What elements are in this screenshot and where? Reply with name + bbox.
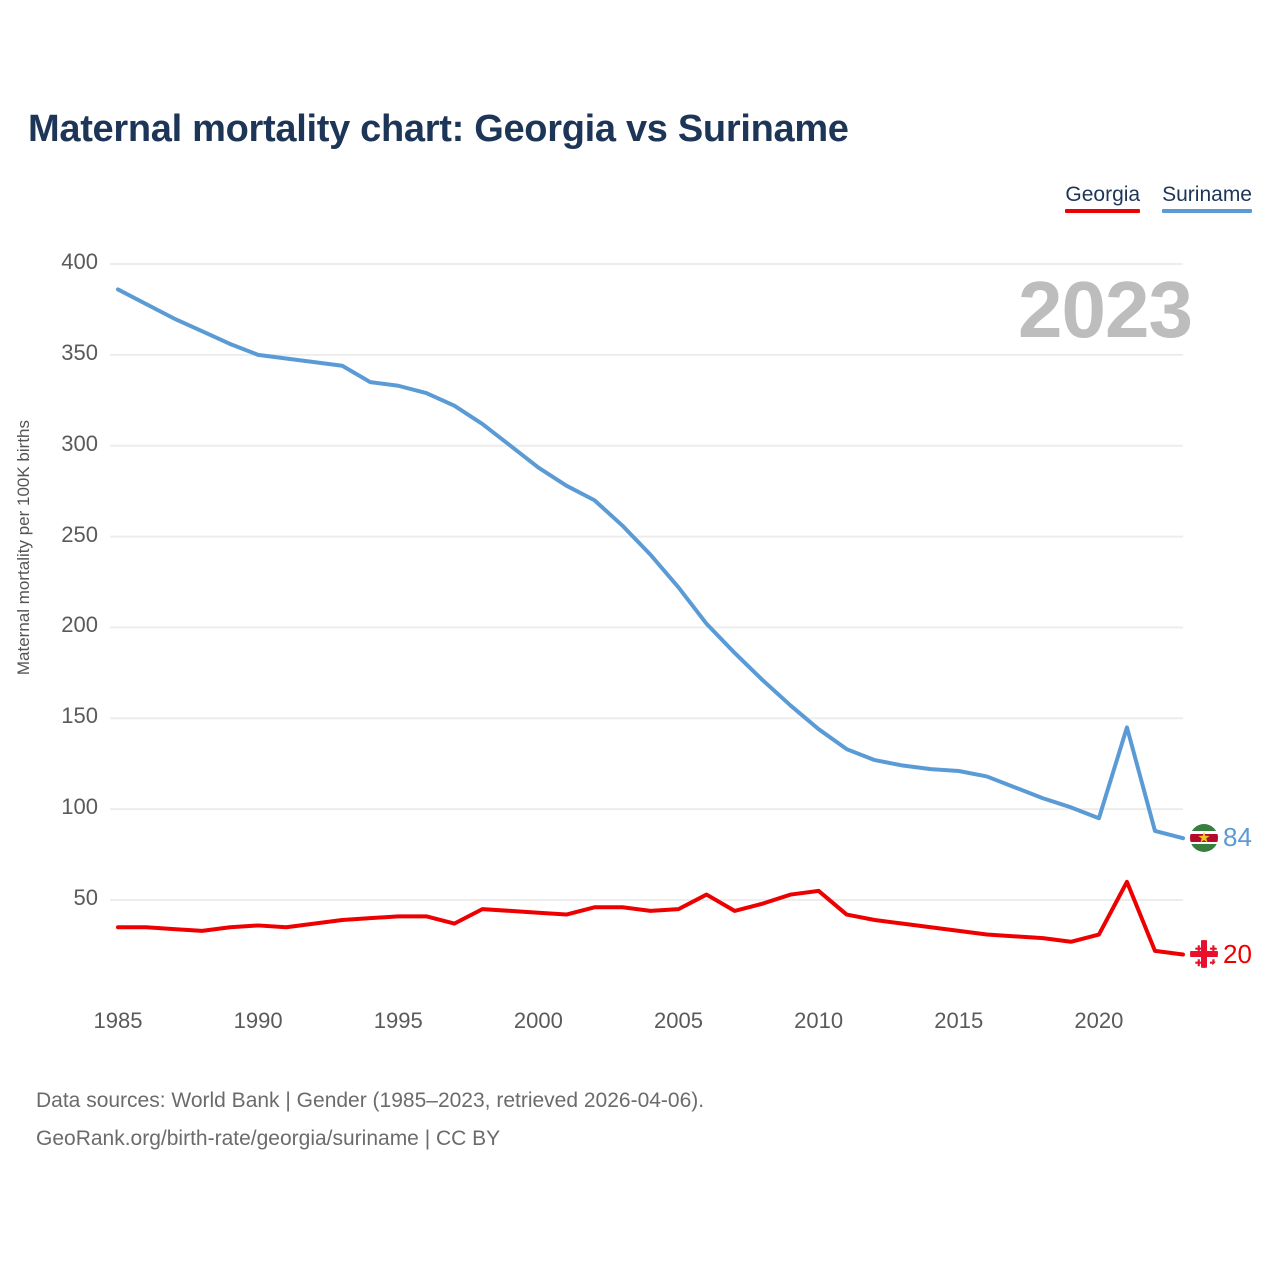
year-watermark: 2023	[1018, 270, 1192, 350]
chart-page: Maternal mortality chart: Georgia vs Sur…	[0, 0, 1280, 1280]
y-tick-label: 350	[61, 340, 98, 366]
x-tick-label: 2000	[514, 1008, 563, 1034]
x-tick-label: 2005	[654, 1008, 703, 1034]
x-tick-label: 2010	[794, 1008, 843, 1034]
end-label-georgia: ✚ ✚ ✚ ✚ 20	[1190, 939, 1252, 970]
x-tick-label: 2015	[934, 1008, 983, 1034]
y-tick-label: 50	[74, 885, 98, 911]
legend-item-georgia[interactable]: Georgia	[1065, 183, 1140, 213]
footer-line-2: GeoRank.org/birth-rate/georgia/suriname …	[36, 1120, 704, 1158]
legend-label-georgia: Georgia	[1065, 183, 1140, 207]
end-label-suriname: ★ 84	[1190, 822, 1252, 853]
legend-swatch-georgia	[1065, 209, 1140, 213]
gridlines	[110, 264, 1183, 900]
legend-swatch-suriname	[1162, 209, 1252, 213]
legend-label-suriname: Suriname	[1162, 183, 1252, 207]
chart-legend: Georgia Suriname	[1065, 183, 1252, 213]
x-tick-label: 1990	[234, 1008, 283, 1034]
y-tick-label: 250	[61, 522, 98, 548]
y-tick-label: 400	[61, 249, 98, 275]
x-tick-label: 2020	[1074, 1008, 1123, 1034]
y-tick-label: 300	[61, 431, 98, 457]
x-tick-label: 1995	[374, 1008, 423, 1034]
y-tick-label: 100	[61, 794, 98, 820]
page-title: Maternal mortality chart: Georgia vs Sur…	[28, 108, 849, 151]
end-value-suriname: 84	[1223, 822, 1252, 853]
y-tick-label: 200	[61, 612, 98, 638]
georgia-flag-icon: ✚ ✚ ✚ ✚	[1190, 940, 1218, 968]
y-axis-title: Maternal mortality per 100K births	[14, 420, 34, 675]
x-tick-label: 1985	[94, 1008, 143, 1034]
y-tick-label: 150	[61, 703, 98, 729]
series-line-suriname	[118, 289, 1183, 838]
end-value-georgia: 20	[1223, 939, 1252, 970]
footer-line-1: Data sources: World Bank | Gender (1985–…	[36, 1082, 704, 1120]
series-line-georgia	[118, 882, 1183, 955]
legend-item-suriname[interactable]: Suriname	[1162, 183, 1252, 213]
footer-credits: Data sources: World Bank | Gender (1985–…	[36, 1082, 704, 1158]
suriname-flag-icon: ★	[1190, 824, 1218, 852]
